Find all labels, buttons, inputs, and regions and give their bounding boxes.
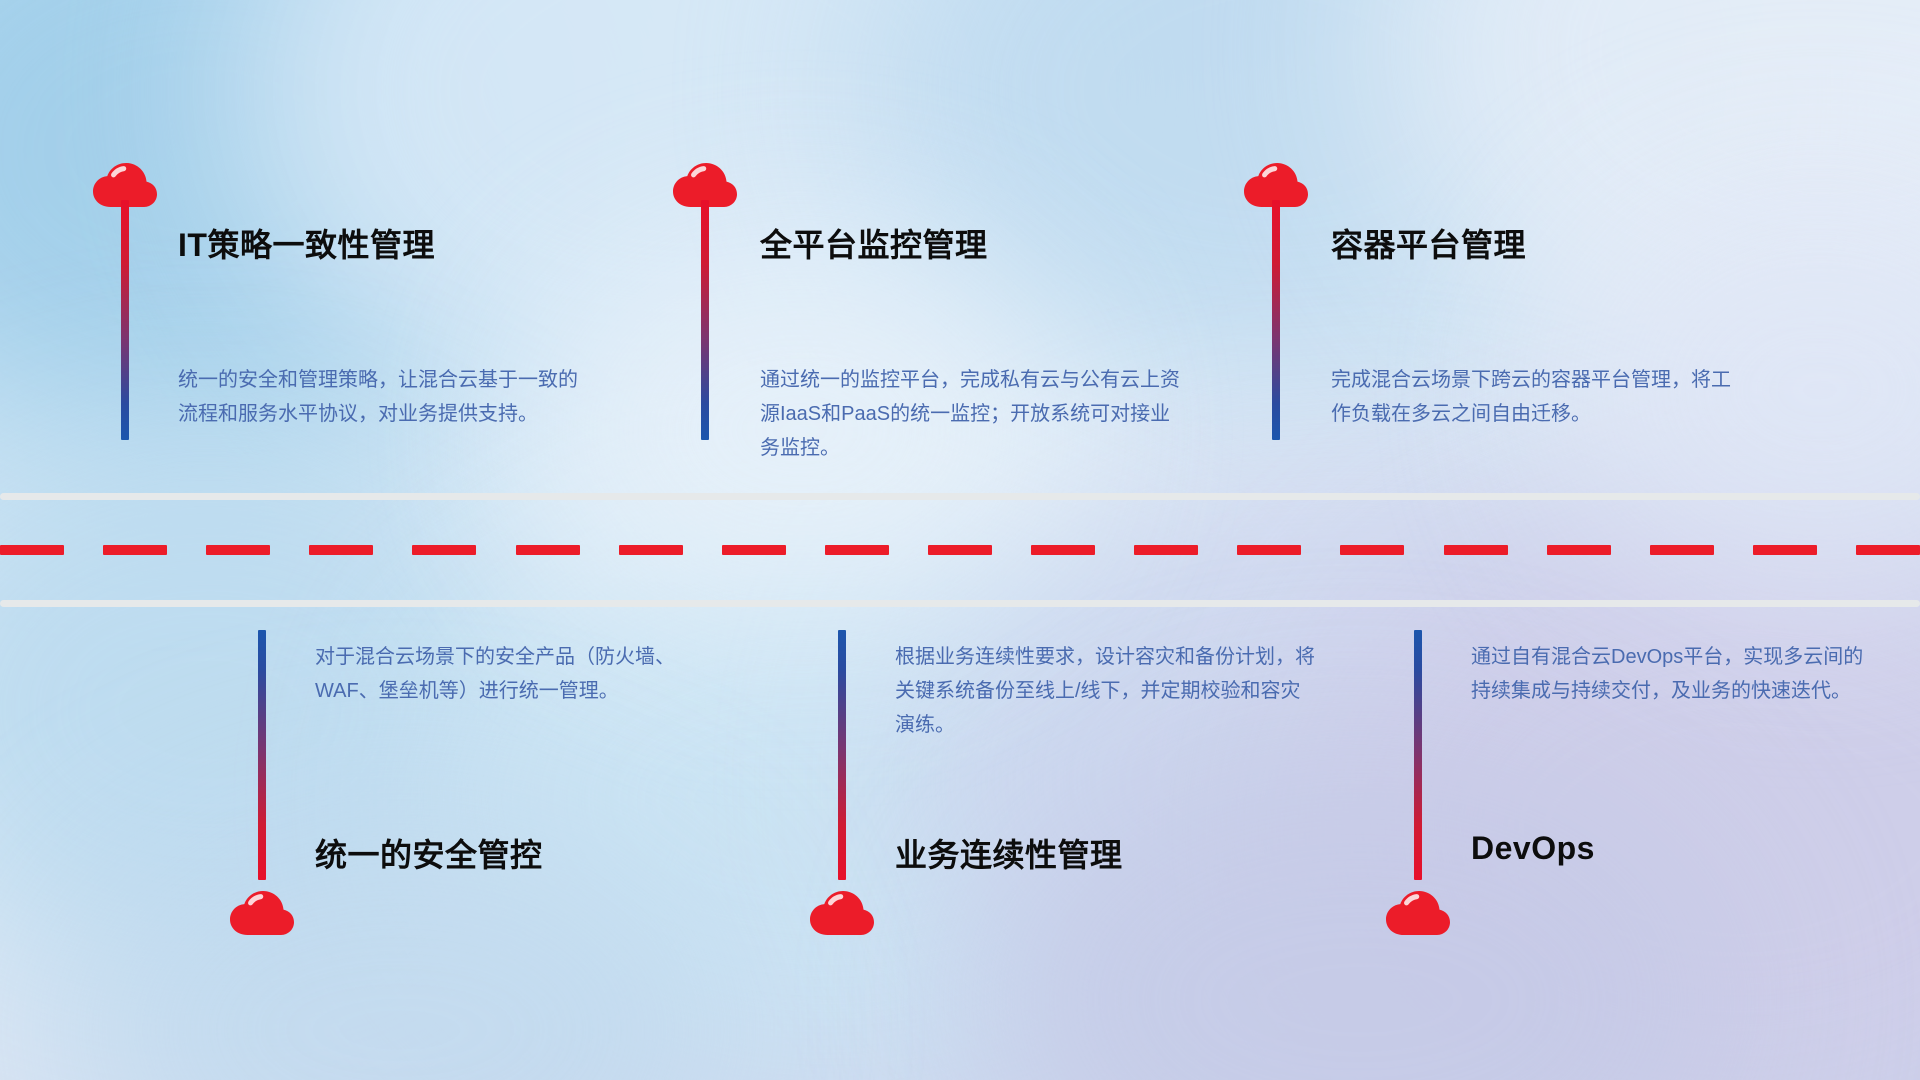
cloud-icon	[1385, 888, 1451, 936]
divider-dash	[412, 545, 476, 555]
card-title: DevOps	[1471, 830, 1595, 867]
card-body: 通过统一的监控平台，完成私有云与公有云上资源IaaS和PaaS的统一监控；开放系…	[760, 363, 1180, 465]
card-title: IT策略一致性管理	[178, 220, 435, 266]
card-body: 通过自有混合云DevOps平台，实现多云间的持续集成与持续交付，及业务的快速迭代…	[1471, 640, 1881, 708]
card-title: 统一的安全管控	[315, 830, 543, 876]
cloud-icon	[229, 888, 295, 936]
card-body: 统一的安全和管理策略，让混合云基于一致的流程和服务水平协议，对业务提供支持。	[178, 363, 593, 431]
divider-dash	[1340, 545, 1404, 555]
divider-dash	[516, 545, 580, 555]
divider-dash	[1031, 545, 1095, 555]
card-title: 业务连续性管理	[895, 830, 1123, 876]
divider-dash	[1237, 545, 1301, 555]
card-body: 根据业务连续性要求，设计容灾和备份计划，将关键系统备份至线上/线下，并定期校验和…	[895, 640, 1315, 742]
connector-bar	[838, 630, 846, 880]
connector-bar	[1414, 630, 1422, 880]
divider-dash	[309, 545, 373, 555]
divider-dash	[0, 545, 64, 555]
divider-dash	[103, 545, 167, 555]
divider-dash	[1444, 545, 1508, 555]
divider-dash	[825, 545, 889, 555]
connector-bar	[1272, 200, 1280, 440]
infographic-canvas: IT策略一致性管理 统一的安全和管理策略，让混合云基于一致的流程和服务水平协议，…	[0, 0, 1920, 1080]
divider-dash	[1856, 545, 1920, 555]
divider-line-bottom	[0, 600, 1920, 607]
cloud-icon	[809, 888, 875, 936]
divider-dash	[1650, 545, 1714, 555]
divider-dash	[928, 545, 992, 555]
divider-line-top	[0, 493, 1920, 500]
divider-dash	[1134, 545, 1198, 555]
divider-dash	[1753, 545, 1817, 555]
card-body: 对于混合云场景下的安全产品（防火墙、WAF、堡垒机等）进行统一管理。	[315, 640, 735, 708]
connector-bar	[121, 200, 129, 440]
divider-dashed-line	[0, 545, 1920, 555]
card-title: 容器平台管理	[1331, 220, 1526, 266]
connector-bar	[258, 630, 266, 880]
connector-bar	[701, 200, 709, 440]
card-body: 完成混合云场景下跨云的容器平台管理，将工作负载在多云之间自由迁移。	[1331, 363, 1741, 431]
divider-dash	[722, 545, 786, 555]
divider-dash	[1547, 545, 1611, 555]
divider-dash	[206, 545, 270, 555]
divider-dash	[619, 545, 683, 555]
card-title: 全平台监控管理	[760, 220, 988, 266]
